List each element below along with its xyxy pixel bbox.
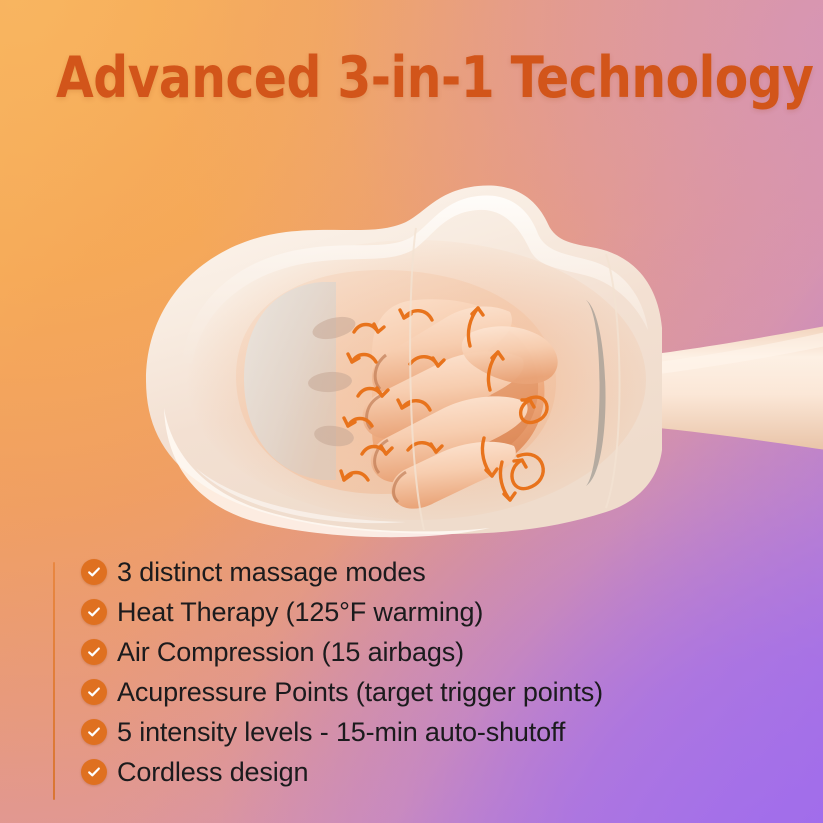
check-circle-icon <box>81 599 107 625</box>
list-item-label: 3 distinct massage modes <box>117 557 426 587</box>
list-item-label: 5 intensity levels - 15-min auto-shutoff <box>117 717 565 747</box>
check-circle-icon <box>81 639 107 665</box>
list-item-label: Cordless design <box>117 757 308 787</box>
check-circle-icon <box>81 759 107 785</box>
list-item-label: Heat Therapy (125°F warming) <box>117 597 483 627</box>
page-title: Advanced 3-in-1 Technology <box>56 48 813 108</box>
list-item: Cordless design <box>53 752 753 792</box>
list-item: Air Compression (15 airbags) <box>53 632 753 672</box>
promo-graphic: Advanced 3-in-1 Technology <box>0 0 823 823</box>
feature-list: 3 distinct massage modes Heat Therapy (1… <box>53 552 753 792</box>
list-item: 3 distinct massage modes <box>53 552 753 592</box>
list-item-label: Acupressure Points (target trigger point… <box>117 677 603 707</box>
list-item-label: Air Compression (15 airbags) <box>117 637 464 667</box>
device-shell <box>146 185 662 537</box>
check-circle-icon <box>81 679 107 705</box>
list-item: Acupressure Points (target trigger point… <box>53 672 753 712</box>
list-item: 5 intensity levels - 15-min auto-shutoff <box>53 712 753 752</box>
list-item: Heat Therapy (125°F warming) <box>53 592 753 632</box>
check-circle-icon <box>81 559 107 585</box>
product-image <box>86 150 823 550</box>
check-circle-icon <box>81 719 107 745</box>
